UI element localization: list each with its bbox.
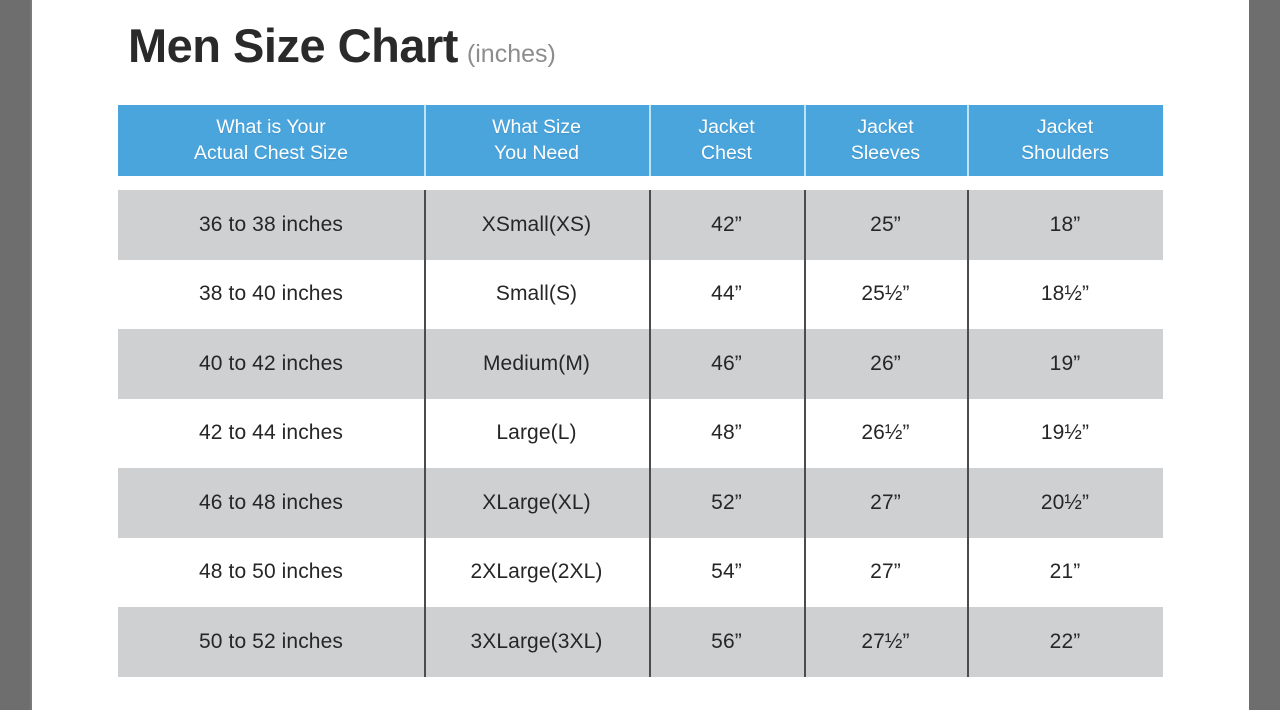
column-header-line2: Actual Chest Size [194, 141, 348, 167]
cell-jacket-sleeves: 26” [804, 329, 967, 399]
cell-size-needed: XSmall(XS) [424, 190, 649, 260]
cell-jacket-chest: 48” [649, 399, 804, 469]
column-header-jacket-sleeves: Jacket Sleeves [804, 105, 967, 176]
table-row: 42 to 44 inches Large(L) 48” 26½” 19½” [118, 399, 1163, 469]
column-header-line1: What is Your [216, 115, 325, 141]
cell-jacket-shoulders: 22” [967, 607, 1163, 677]
cell-jacket-chest: 44” [649, 260, 804, 330]
cell-jacket-shoulders: 21” [967, 538, 1163, 608]
cell-chest-size: 40 to 42 inches [118, 329, 424, 399]
cell-size-needed: Large(L) [424, 399, 649, 469]
table-row: 46 to 48 inches XLarge(XL) 52” 27” 20½” [118, 468, 1163, 538]
table-row: 38 to 40 inches Small(S) 44” 25½” 18½” [118, 260, 1163, 330]
cell-chest-size: 46 to 48 inches [118, 468, 424, 538]
cell-jacket-chest: 56” [649, 607, 804, 677]
column-header-line1: Jacket [698, 115, 754, 141]
table-row: 48 to 50 inches 2XLarge(2XL) 54” 27” 21” [118, 538, 1163, 608]
page-title-main: Men Size Chart [128, 22, 458, 69]
chart-page: Men Size Chart (inches) What is Your Act… [32, 0, 1249, 710]
table-row: 36 to 38 inches XSmall(XS) 42” 25” 18” [118, 190, 1163, 260]
column-header-actual-chest-size: What is Your Actual Chest Size [118, 105, 424, 176]
cell-size-needed: 2XLarge(2XL) [424, 538, 649, 608]
cell-jacket-chest: 42” [649, 190, 804, 260]
cell-jacket-shoulders: 19” [967, 329, 1163, 399]
letterbox-band-right [1249, 0, 1280, 710]
cell-chest-size: 38 to 40 inches [118, 260, 424, 330]
header-body-gap [118, 176, 1163, 190]
cell-size-needed: 3XLarge(3XL) [424, 607, 649, 677]
cell-jacket-sleeves: 25” [804, 190, 967, 260]
cell-jacket-sleeves: 27” [804, 468, 967, 538]
column-header-line1: What Size [492, 115, 581, 141]
column-header-size-you-need: What Size You Need [424, 105, 649, 176]
column-header-line1: Jacket [1037, 115, 1093, 141]
cell-size-needed: Medium(M) [424, 329, 649, 399]
column-header-line1: Jacket [857, 115, 913, 141]
table-header-row: What is Your Actual Chest Size What Size… [118, 105, 1163, 176]
cell-jacket-sleeves: 27” [804, 538, 967, 608]
size-chart-table: What is Your Actual Chest Size What Size… [118, 105, 1163, 677]
cell-jacket-shoulders: 18½” [967, 260, 1163, 330]
cell-size-needed: XLarge(XL) [424, 468, 649, 538]
cell-jacket-chest: 52” [649, 468, 804, 538]
cell-chest-size: 48 to 50 inches [118, 538, 424, 608]
cell-chest-size: 50 to 52 inches [118, 607, 424, 677]
page-title-unit: (inches) [467, 42, 556, 67]
column-header-jacket-shoulders: Jacket Shoulders [967, 105, 1163, 176]
cell-jacket-shoulders: 18” [967, 190, 1163, 260]
cell-jacket-sleeves: 26½” [804, 399, 967, 469]
table-row: 50 to 52 inches 3XLarge(3XL) 56” 27½” 22… [118, 607, 1163, 677]
cell-jacket-sleeves: 25½” [804, 260, 967, 330]
cell-chest-size: 42 to 44 inches [118, 399, 424, 469]
cell-jacket-sleeves: 27½” [804, 607, 967, 677]
cell-jacket-chest: 54” [649, 538, 804, 608]
column-header-line2: Sleeves [851, 141, 920, 167]
cell-size-needed: Small(S) [424, 260, 649, 330]
cell-chest-size: 36 to 38 inches [118, 190, 424, 260]
cell-jacket-shoulders: 19½” [967, 399, 1163, 469]
cell-jacket-chest: 46” [649, 329, 804, 399]
column-header-line2: You Need [494, 141, 579, 167]
page-title: Men Size Chart (inches) [128, 22, 556, 69]
cell-jacket-shoulders: 20½” [967, 468, 1163, 538]
column-header-jacket-chest: Jacket Chest [649, 105, 804, 176]
column-header-line2: Shoulders [1021, 141, 1109, 167]
table-row: 40 to 42 inches Medium(M) 46” 26” 19” [118, 329, 1163, 399]
column-header-line2: Chest [701, 141, 752, 167]
screenshot-root: Men Size Chart (inches) What is Your Act… [0, 0, 1280, 710]
letterbox-band-left [0, 0, 32, 710]
